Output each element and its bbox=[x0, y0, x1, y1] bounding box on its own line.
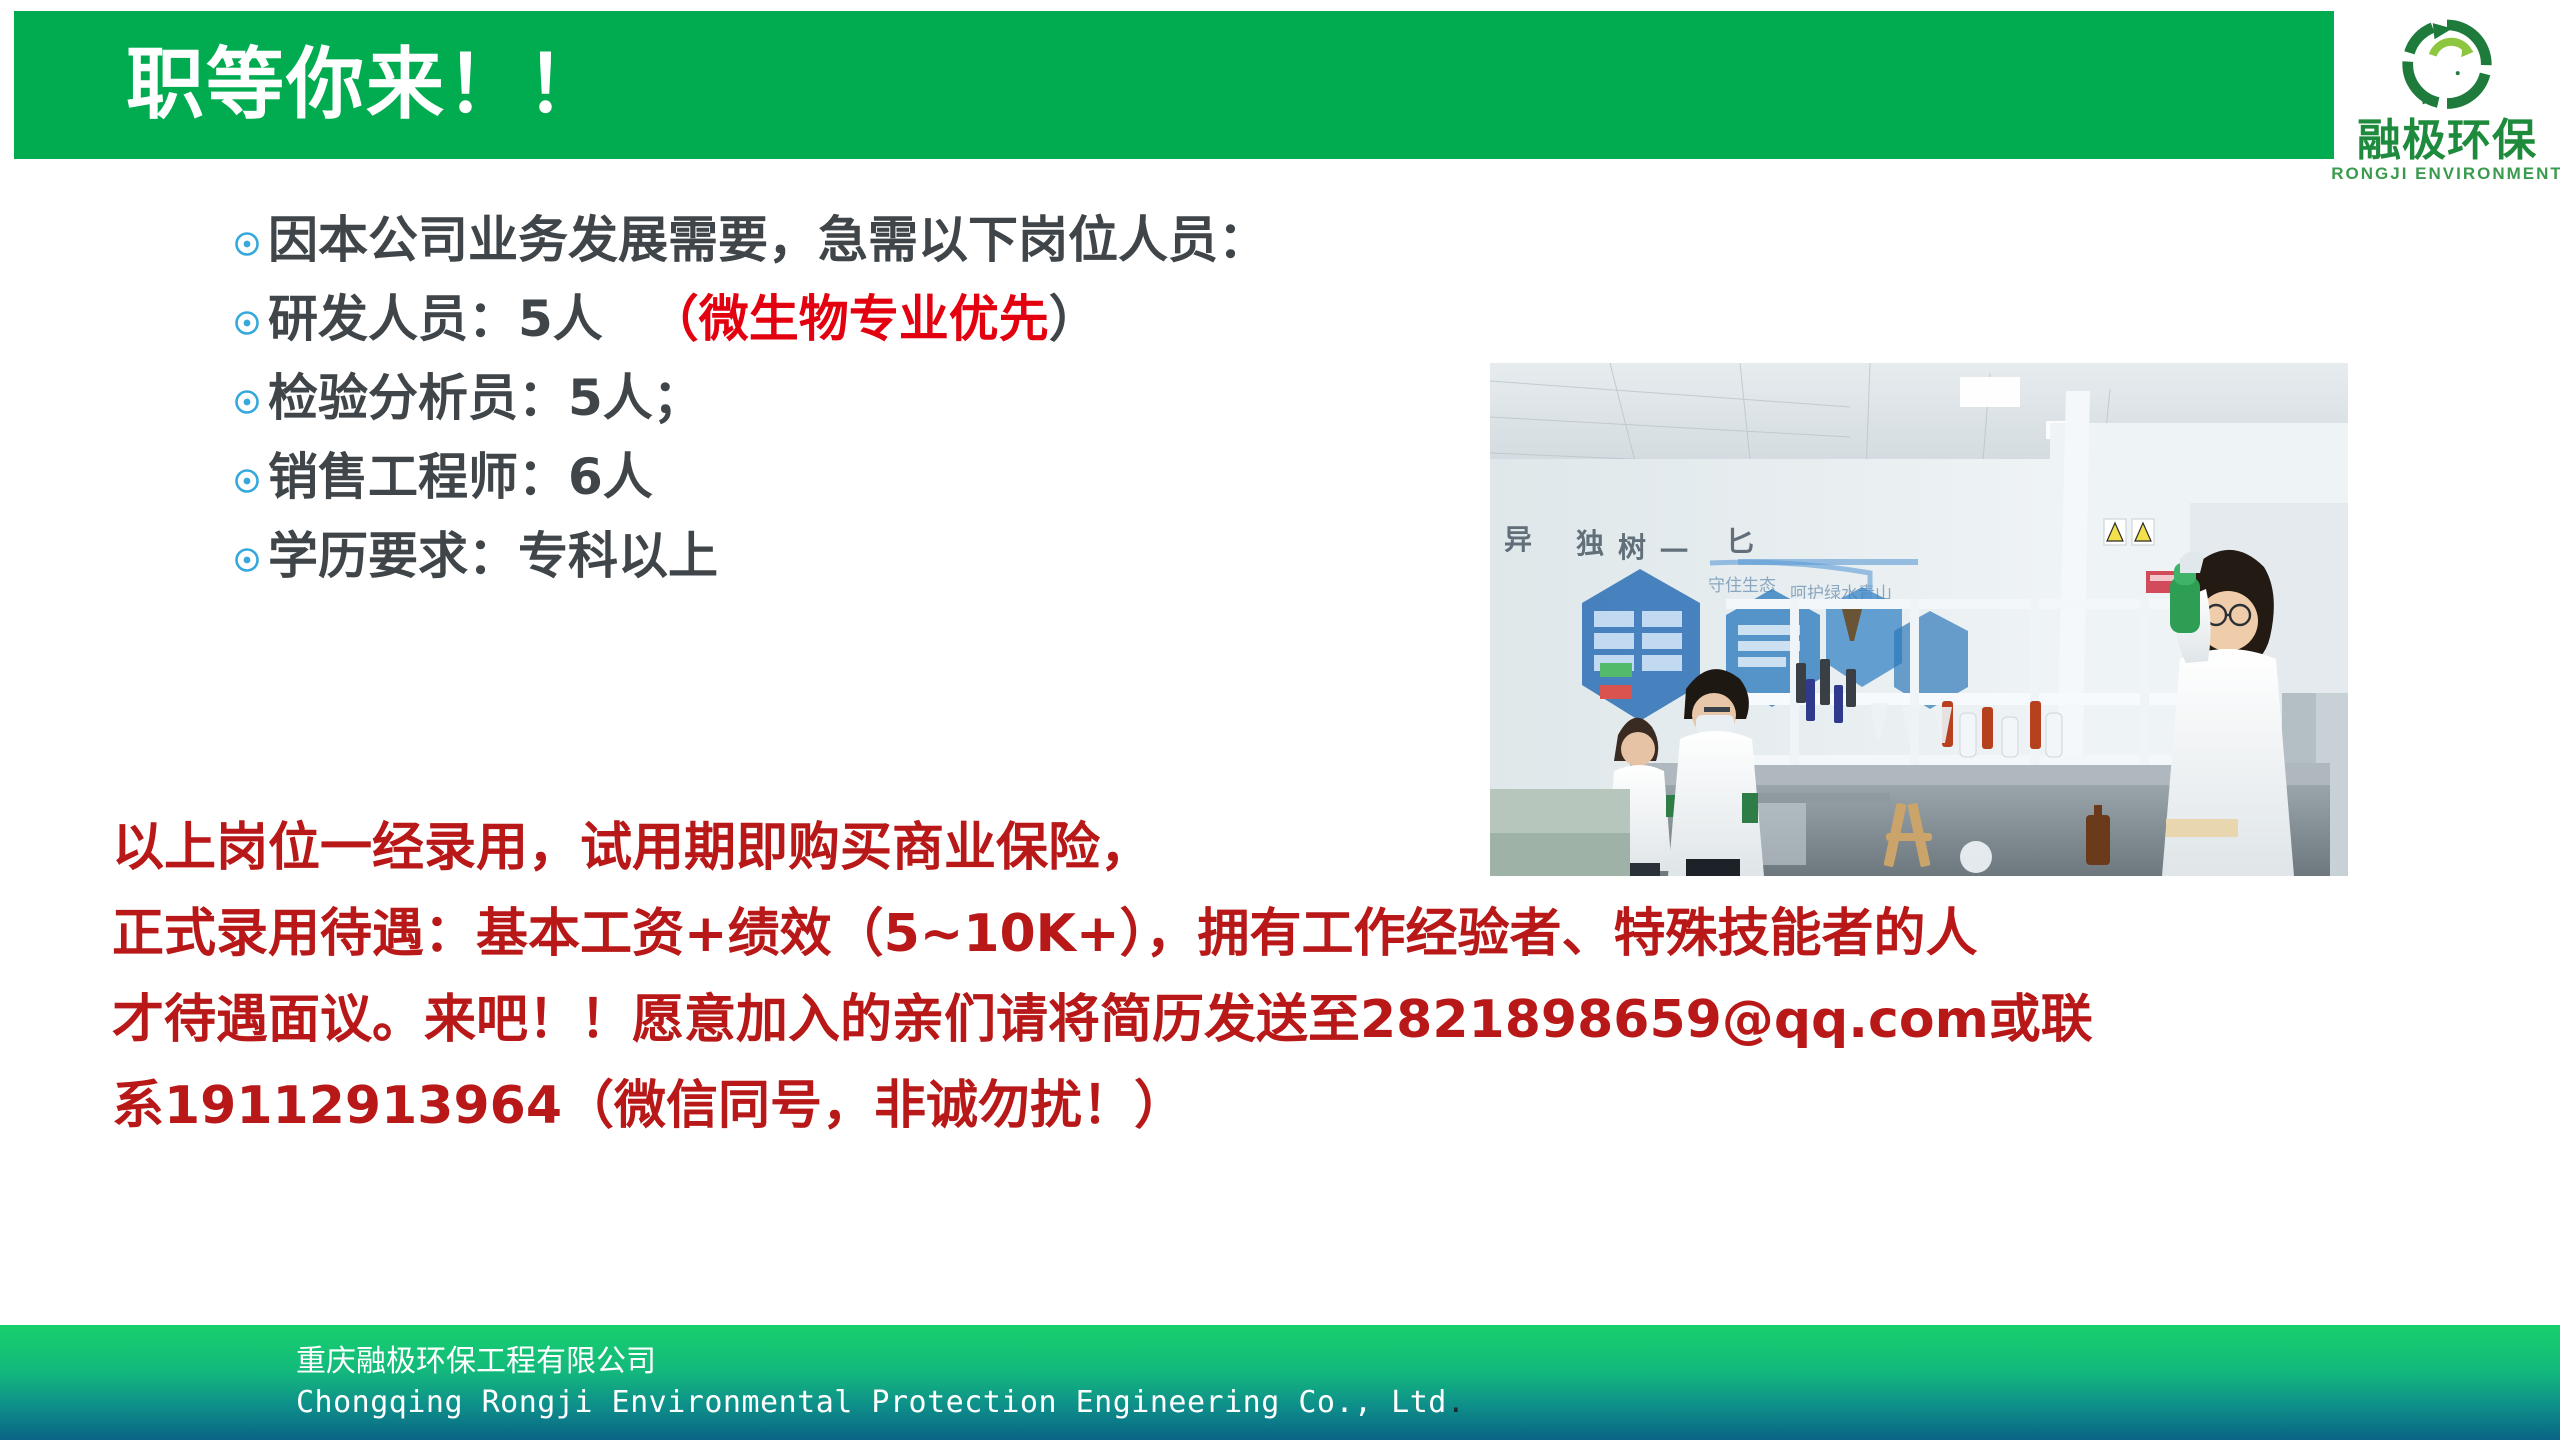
circled-dot-bullet-icon bbox=[232, 363, 268, 433]
logo-name-cn: 融极环保 bbox=[2357, 118, 2537, 164]
bullet-item-label-rd: 研发人员：5人（微生物专业优先） bbox=[268, 284, 1532, 354]
bullet-item-label: 销售工程师：6人 bbox=[268, 442, 1532, 512]
list-item: 检验分析员：5人； bbox=[232, 363, 1532, 433]
red-line-3-email: 才待遇面议。来吧！！愿意加入的亲们请将简历发送至2821898659@qq.co… bbox=[112, 977, 2452, 1063]
footer-company-en: Chongqing Rongji Environmental Protectio… bbox=[296, 1384, 1465, 1422]
red-line-4-phone: 系19112913964（微信同号，非诚勿扰！） bbox=[112, 1063, 2452, 1149]
bullet-item-label: 检验分析员：5人； bbox=[268, 363, 1532, 433]
svg-text:树: 树 bbox=[1618, 531, 1646, 564]
circled-dot-bullet-icon bbox=[232, 205, 268, 275]
footer-company-en-period: . bbox=[1447, 1385, 1466, 1420]
bullet-item-label: 因本公司业务发展需要，急需以下岗位人员： bbox=[268, 205, 1532, 275]
recycling-circle-logo-icon bbox=[2393, 16, 2501, 116]
rd-headcount-label: 研发人员：5人 bbox=[268, 290, 603, 348]
circled-dot-bullet-icon bbox=[232, 284, 268, 354]
svg-text:一: 一 bbox=[1660, 535, 1688, 568]
footer-company-en-text: Chongqing Rongji Environmental Protectio… bbox=[296, 1385, 1447, 1420]
list-item: 因本公司业务发展需要，急需以下岗位人员： bbox=[232, 205, 1532, 275]
list-item: 销售工程师：6人 bbox=[232, 442, 1532, 512]
svg-text:匕: 匕 bbox=[1726, 525, 1754, 558]
list-item: 研发人员：5人（微生物专业优先） bbox=[232, 284, 1532, 354]
slide-root: 职等你来！！ 融极环保 RONGJI ENVIRONMENT bbox=[0, 0, 2560, 1440]
logo-name-en: RONGJI ENVIRONMENT bbox=[2331, 164, 2560, 184]
circled-dot-bullet-icon bbox=[232, 442, 268, 512]
laboratory-photo: 异 独 树 一 匕 守住生态 呵护绿水青山 bbox=[1490, 363, 2348, 876]
svg-text:异: 异 bbox=[1504, 523, 1532, 556]
red-line-1: 以上岗位一经录用，试用期即购买商业保险， bbox=[112, 805, 1382, 891]
red-announcement-paragraph: 以上岗位一经录用，试用期即购买商业保险， 正式录用待遇：基本工资+绩效（5~10… bbox=[112, 805, 2452, 1149]
job-bullet-list: 因本公司业务发展需要，急需以下岗位人员： 研发人员：5人（微生物专业优先） 检验… bbox=[232, 205, 1532, 600]
page-title: 职等你来！！ bbox=[126, 37, 606, 133]
red-line-2: 正式录用待遇：基本工资+绩效（5~10K+），拥有工作经验者、特殊技能者的人 bbox=[112, 891, 2452, 977]
rd-preference-close-paren: ） bbox=[1049, 290, 1099, 348]
rd-preference-note: （微生物专业优先 bbox=[649, 290, 1049, 348]
footer-company-cn: 重庆融极环保工程有限公司 bbox=[296, 1343, 656, 1381]
svg-text:独: 独 bbox=[1576, 527, 1604, 560]
bullet-item-label: 学历要求：专科以上 bbox=[268, 521, 1532, 591]
company-logo: 融极环保 RONGJI ENVIRONMENT bbox=[2334, 10, 2560, 208]
circled-dot-bullet-icon bbox=[232, 521, 268, 591]
header-banner: 职等你来！！ bbox=[14, 11, 2560, 159]
list-item: 学历要求：专科以上 bbox=[232, 521, 1532, 591]
